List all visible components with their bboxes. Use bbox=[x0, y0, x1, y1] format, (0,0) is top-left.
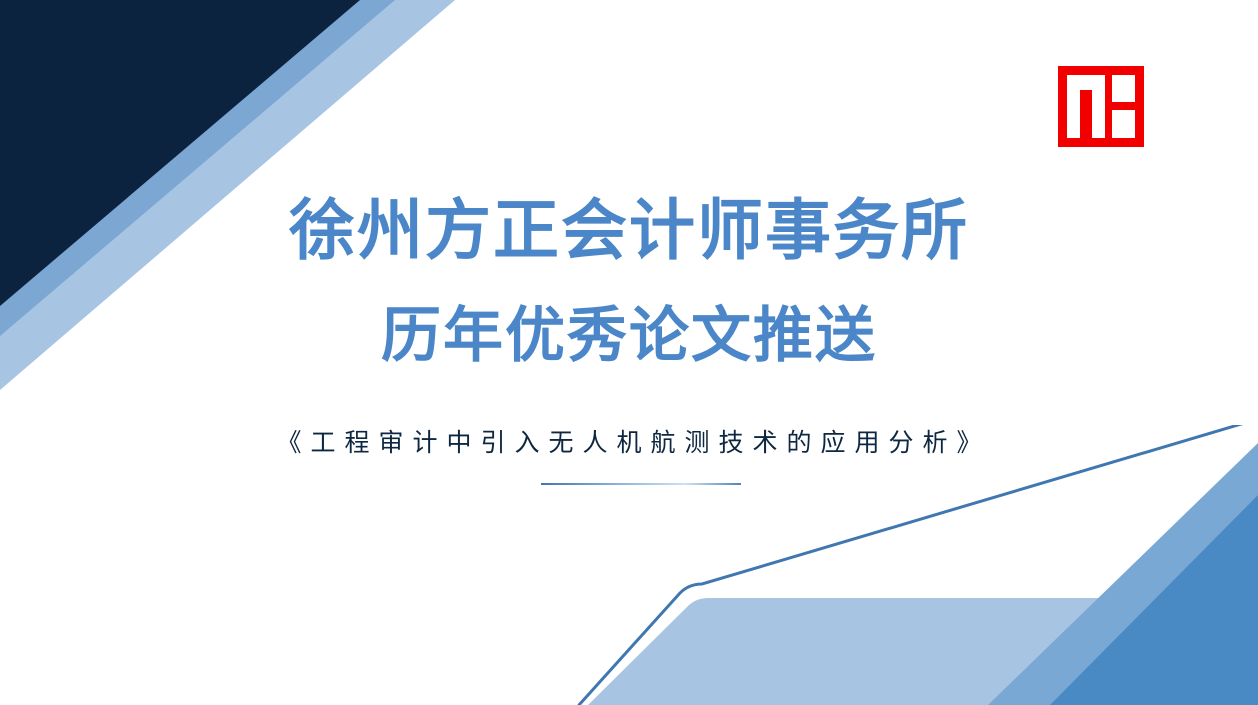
company-logo bbox=[1058, 66, 1144, 147]
logo-right-top-cut bbox=[1112, 75, 1135, 102]
title-divider-rule bbox=[541, 483, 741, 485]
page-title-line-1: 徐州方正会计师事务所 bbox=[0, 191, 1258, 271]
paper-subtitle: 《工程审计中引入无人机航测技术的应用分析》 bbox=[0, 424, 1258, 462]
medium-blue-band bbox=[0, 0, 395, 336]
light-blue-banner bbox=[588, 598, 1258, 705]
banner-outline-stroke bbox=[579, 425, 1258, 705]
dark-blue-corner-triangle bbox=[1050, 495, 1258, 705]
page-title-line-2: 历年优秀论文推送 bbox=[0, 299, 1258, 373]
logo-right-bottom-cut bbox=[1112, 110, 1135, 138]
logo-left-center-bar bbox=[1080, 90, 1092, 138]
bottom-right-diagonal-decoration bbox=[558, 425, 1258, 705]
title-slide: 徐州方正会计师事务所 历年优秀论文推送 《工程审计中引入无人机航测技术的应用分析… bbox=[0, 0, 1258, 705]
medium-blue-band-br bbox=[988, 443, 1258, 705]
